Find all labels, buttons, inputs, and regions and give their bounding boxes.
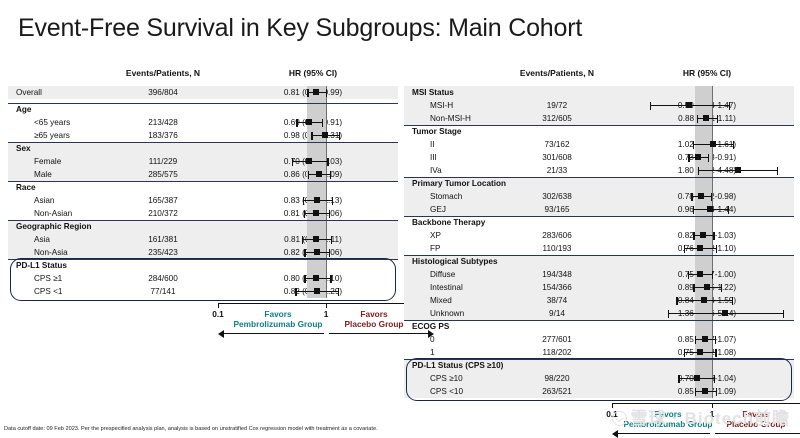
ci-cap-upper [729, 102, 730, 110]
forest-plot-cell [600, 307, 752, 320]
forest-row: Overall396/8040.81 (0.67-0.99) [8, 86, 398, 99]
ci-cap-lower [693, 232, 694, 240]
axis-tick [218, 303, 219, 308]
point-estimate-marker [722, 310, 728, 316]
point-estimate-marker [314, 249, 320, 255]
reference-band [695, 125, 712, 138]
point-estimate-marker [703, 115, 709, 121]
forest-row: Stomach302/6380.78 (0.62-0.98) [404, 190, 794, 203]
ci-cap-lower [684, 245, 685, 253]
forest-row: XP283/6060.82 (0.65-1.03) [404, 229, 794, 242]
point-estimate-marker [316, 171, 322, 177]
forest-row: CPS ≥1284/6000.80 (0.63-1.10) [8, 272, 398, 285]
ci-cap-upper [713, 232, 714, 240]
reference-line [326, 181, 327, 194]
forest-row: Diffuse194/3480.75 (0.57-1.00) [404, 268, 794, 281]
point-estimate-marker [314, 288, 320, 294]
point-estimate-marker [694, 375, 700, 381]
ci-cap-lower [304, 249, 305, 257]
reference-band [695, 216, 712, 229]
events-patients-value: 235/423 [118, 248, 208, 257]
ci-cap-upper [716, 245, 717, 253]
forest-plot-cell [204, 155, 356, 168]
forest-plot-cell [600, 281, 752, 294]
events-patients-value: 213/428 [118, 118, 208, 127]
ci-cap-upper [712, 271, 713, 279]
point-estimate-marker [697, 271, 703, 277]
reference-line [326, 142, 327, 155]
ci-cap-upper [728, 206, 729, 214]
favors-left-line2: Pembrolizumab Group [234, 319, 323, 329]
forest-row: CPS ≥1098/2200.70 (0.46-1.04) [404, 372, 794, 385]
ci-cap-lower [295, 288, 296, 296]
reference-line [326, 259, 327, 272]
ci-cap-upper [715, 336, 716, 344]
point-estimate-marker [313, 275, 319, 281]
subgroup-header-row: Histological Subtypes [404, 255, 794, 268]
ci-cap-upper [330, 171, 331, 179]
subgroup-label: Asian [34, 196, 54, 205]
reference-band [695, 359, 712, 372]
events-patients-value: 154/366 [512, 283, 602, 292]
ci-cap-lower [311, 132, 312, 140]
subgroup-label: Histological Subtypes [412, 257, 498, 266]
forest-plot-cell [204, 259, 356, 272]
subgroup-header-row: Tumor Stage [404, 125, 794, 138]
watermark: 雪球 · Biotech前瞻 [612, 404, 790, 429]
ci-cap-lower [304, 210, 305, 218]
subgroup-label: PD-L1 Status [16, 261, 67, 270]
forest-plot-cell [600, 216, 752, 229]
subgroup-label: MSI Status [412, 88, 454, 97]
ci-cap-lower [308, 171, 309, 179]
ci-cap-lower [303, 197, 304, 205]
ci-cap-lower [693, 141, 694, 149]
forest-plot-cell [600, 320, 752, 333]
forest-row: IVa21/331.80 (0.72-4.48) [404, 164, 794, 177]
forest-row: ≥65 years183/3760.98 (0.73-1.31) [8, 129, 398, 142]
favors-right-line2: Placebo Group [344, 319, 403, 329]
events-patients-value: 396/804 [118, 88, 208, 97]
reference-line [712, 320, 713, 333]
events-patients-value: 19/72 [512, 101, 602, 110]
events-patients-value: 301/608 [512, 153, 602, 162]
ci-cap-lower [292, 158, 293, 166]
forest-plot-cell [600, 164, 752, 177]
ci-cap-upper [338, 288, 339, 296]
events-patients-value: 194/348 [512, 270, 602, 279]
point-estimate-marker [313, 210, 319, 216]
forest-plot-cell [600, 190, 752, 203]
events-patients-value: 21/33 [512, 166, 602, 175]
point-estimate-marker [697, 245, 703, 251]
forest-row: 0277/6010.85 (0.67-1.07) [404, 333, 794, 346]
events-patients-value: 283/606 [512, 231, 602, 240]
subgroup-header-row: ECOG PS [404, 320, 794, 333]
events-patients-value: 165/387 [118, 196, 208, 205]
forest-plot-cell [204, 246, 356, 259]
ci-cap-lower [302, 236, 303, 244]
ci-cap-upper [332, 197, 333, 205]
direction-line-right [715, 433, 800, 434]
reference-band [307, 103, 326, 116]
group-separator [404, 125, 794, 126]
subgroup-label: IVa [430, 166, 442, 175]
events-patients-value: 263/521 [512, 387, 602, 396]
watermark-text: 雪球 · Biotech前瞻 [631, 409, 790, 428]
point-estimate-marker [701, 297, 707, 303]
ci-cap-upper [322, 119, 323, 127]
group-separator [8, 181, 398, 182]
ci-cap-upper [326, 89, 327, 97]
forest-row: CPS <10263/5210.85 (0.67-1.09) [404, 385, 794, 398]
point-estimate-marker [707, 206, 713, 212]
events-patients-value: 93/165 [512, 205, 602, 214]
ci-cap-lower [698, 167, 699, 175]
forest-plot-cell [600, 151, 752, 164]
group-separator [8, 142, 398, 143]
subgroup-label: CPS ≥10 [430, 374, 463, 383]
axis-tick-label: 0.1 [212, 309, 224, 319]
ci-cap-lower [684, 349, 685, 357]
subgroup-header-row: Race [8, 181, 398, 194]
forest-plot-cell [204, 220, 356, 233]
forest-plot-cell [204, 142, 356, 155]
point-estimate-marker [735, 167, 741, 173]
group-separator [8, 259, 398, 260]
forest-plot-cell [204, 86, 356, 99]
subgroup-label: II [430, 140, 435, 149]
point-estimate-marker [306, 119, 312, 125]
ci-cap-upper [329, 249, 330, 257]
ci-cap-lower [650, 102, 651, 110]
subgroup-header-row: PD-L1 Status (CPS ≥10) [404, 359, 794, 372]
subgroup-label: ≥65 years [34, 131, 70, 140]
reference-line [712, 86, 713, 99]
subgroup-label: PD-L1 Status (CPS ≥10) [412, 361, 503, 370]
point-estimate-marker [695, 154, 701, 160]
forest-row: Male285/5750.86 (0.68-1.09) [8, 168, 398, 181]
forest-plot-cell [600, 242, 752, 255]
column-header-hr-left: HR (95% CI) [238, 68, 388, 82]
reference-band [307, 259, 326, 272]
subgroup-header-row: PD-L1 Status [8, 259, 398, 272]
group-separator [404, 216, 794, 217]
reference-line [712, 255, 713, 268]
subgroup-label: Diffuse [430, 270, 455, 279]
subgroup-label: Geographic Region [16, 222, 92, 231]
forest-row: Non-Asia235/4230.82 (0.63-1.06) [8, 246, 398, 259]
forest-row: Intestinal154/3660.89 (0.65-1.22) [404, 281, 794, 294]
subgroup-header-row: Geographic Region [8, 220, 398, 233]
reference-band [307, 142, 326, 155]
events-patients-value: 38/74 [512, 296, 602, 305]
subgroup-label: Sex [16, 144, 31, 153]
ci-cap-upper [330, 275, 331, 283]
ci-cap-upper [783, 310, 784, 318]
ci-cap-lower [693, 284, 694, 292]
events-patients-value: 161/381 [118, 235, 208, 244]
ci-cap-upper [716, 388, 717, 396]
ci-cap-lower [688, 154, 689, 162]
subgroup-header-row: MSI Status [404, 86, 794, 99]
group-separator [404, 177, 794, 178]
forest-row: Female111/2290.70 (0.48-1.03) [8, 155, 398, 168]
column-header-np-left: Events/Patients, N [118, 68, 208, 82]
forest-row: CPS <177/1410.82 (0.52-1.29) [8, 285, 398, 298]
direction-arrow-left [218, 330, 224, 338]
events-patients-value: 77/141 [118, 287, 208, 296]
point-estimate-marker [700, 232, 706, 238]
events-patients-value: 98/220 [512, 374, 602, 383]
point-estimate-marker [306, 158, 312, 164]
subgroup-label: Male [34, 170, 52, 179]
forest-row: Mixed38/740.84 (0.44-1.59) [404, 294, 794, 307]
page-title: Event-Free Survival in Key Subgroups: Ma… [18, 14, 582, 43]
point-estimate-marker [322, 132, 328, 138]
subgroup-label: Intestinal [430, 283, 463, 292]
reference-line [326, 220, 327, 233]
forest-row: Non-Asian210/3720.81 (0.62-1.06) [8, 207, 398, 220]
forest-row: Asian165/3870.83 (0.61-1.13) [8, 194, 398, 207]
reference-band [695, 320, 712, 333]
forest-plot-cell [204, 285, 356, 298]
subgroup-label: MSI-H [430, 101, 453, 110]
axis-tick [326, 303, 327, 308]
ci-cap-lower [688, 271, 689, 279]
reference-band [695, 86, 712, 99]
forest-plot-cell [600, 229, 752, 242]
ci-cap-lower [676, 297, 677, 305]
point-estimate-marker [702, 388, 708, 394]
reference-line [326, 116, 327, 129]
subgroup-label: Primary Tumor Location [412, 179, 506, 188]
group-separator [404, 359, 794, 360]
ci-cap-lower [304, 275, 305, 283]
events-patients-value: 118/202 [512, 348, 602, 357]
subgroup-label: <65 years [34, 118, 70, 127]
forest-row: II73/1621.02 (0.64-1.61) [404, 138, 794, 151]
subgroup-label: Unknown [430, 309, 464, 318]
forest-plot-cell [204, 168, 356, 181]
reference-line [712, 177, 713, 190]
group-separator [404, 255, 794, 256]
subgroup-label: Backbone Therapy [412, 218, 485, 227]
favors-pembrolizumab-label: FavorsPembrolizumab Group [234, 309, 323, 329]
ci-cap-upper [331, 236, 332, 244]
forest-plot-cell [600, 372, 752, 385]
events-patients-value: 111/229 [118, 157, 208, 166]
forest-row: III301/6080.73 (0.58-0.91) [404, 151, 794, 164]
events-patients-value: 73/162 [512, 140, 602, 149]
subgroup-label: Age [16, 105, 31, 114]
point-estimate-marker [314, 197, 320, 203]
events-patients-value: 312/605 [512, 114, 602, 123]
subgroup-header-row: Age [8, 103, 398, 116]
column-header-np-right: Events/Patients, N [512, 68, 602, 82]
axis-tick-label: 1 [324, 309, 329, 319]
ci-cap-upper [733, 141, 734, 149]
ci-cap-upper [732, 297, 733, 305]
ci-cap-upper [714, 375, 715, 383]
ci-cap-upper [339, 132, 340, 140]
group-separator [404, 320, 794, 321]
forest-row: 1118/2020.75 (0.52-1.08) [404, 346, 794, 359]
subgroup-label: CPS <10 [430, 387, 463, 396]
reference-line [712, 216, 713, 229]
forest-rows-right: MSI StatusMSI-H19/720.59 (0.24-1.47)Non-… [404, 86, 794, 398]
direction-line-left [618, 433, 710, 434]
ci-cap-upper [708, 154, 709, 162]
slide-root: Event-Free Survival in Key Subgroups: Ma… [0, 0, 800, 436]
forest-plot-cell [600, 125, 752, 138]
forest-plot-cell [600, 177, 752, 190]
ci-cap-upper [329, 210, 330, 218]
forest-plot-cell [204, 116, 356, 129]
point-estimate-marker [710, 141, 716, 147]
ci-cap-upper [721, 284, 722, 292]
point-estimate-marker [704, 284, 710, 290]
subgroup-label: CPS <1 [34, 287, 62, 296]
forest-plot-cell [600, 385, 752, 398]
forest-row: Unknown9/141.36 (0.36-5.14) [404, 307, 794, 320]
forest-plot-cell [600, 255, 752, 268]
events-patients-value: 302/638 [512, 192, 602, 201]
ci-cap-lower [307, 89, 308, 97]
reference-band [307, 181, 326, 194]
ci-cap-upper [711, 193, 712, 201]
subgroup-label: III [430, 153, 437, 162]
forest-plot-cell [204, 207, 356, 220]
ci-cap-lower [668, 310, 669, 318]
group-separator [8, 220, 398, 221]
subgroup-label: Overall [16, 88, 42, 97]
favors-left-line1: Favors [264, 309, 291, 319]
forest-row: Non-MSI-H312/6050.88 (0.71-1.11) [404, 112, 794, 125]
forest-plot-cell [600, 112, 752, 125]
forest-plot-cell [600, 86, 752, 99]
forest-plot-cell [600, 203, 752, 216]
forest-plot-cell [600, 99, 752, 112]
subgroup-label: 0 [430, 335, 435, 344]
forest-row: Asia161/3810.81 (0.60-1.11) [8, 233, 398, 246]
reference-line [326, 103, 327, 116]
forest-row: GEJ93/1650.96 (0.64-1.44) [404, 203, 794, 216]
reference-band [695, 255, 712, 268]
subgroup-label: 1 [430, 348, 435, 357]
reference-band [307, 220, 326, 233]
direction-arrow-left [612, 430, 618, 438]
reference-band [695, 177, 712, 190]
subgroup-label: Mixed [430, 296, 452, 305]
point-estimate-marker [697, 349, 703, 355]
forest-plot-cell [204, 194, 356, 207]
ci-cap-upper [327, 158, 328, 166]
forest-row: FP110/1930.76 (0.52-1.10) [404, 242, 794, 255]
ci-cap-lower [678, 375, 679, 383]
forest-plot-cell [204, 233, 356, 246]
events-patients-value: 285/575 [118, 170, 208, 179]
forest-rows-left: Overall396/8040.81 (0.67-0.99)Age<65 yea… [8, 86, 398, 298]
forest-plot-cell [204, 103, 356, 116]
events-patients-value: 210/372 [118, 209, 208, 218]
favors-placebo-label: FavorsPlacebo Group [344, 309, 403, 329]
events-patients-value: 277/601 [512, 335, 602, 344]
subgroup-label: GEJ [430, 205, 446, 214]
forest-plot-cell [600, 138, 752, 151]
footnote: Data cutoff date: 09 Feb 2023. Per the p… [4, 426, 378, 432]
ci-cap-upper [715, 349, 716, 357]
subgroup-label: Non-Asian [34, 209, 72, 218]
events-patients-value: 110/193 [512, 244, 602, 253]
subgroup-header-row: Primary Tumor Location [404, 177, 794, 190]
ci-cap-lower [693, 206, 694, 214]
ci-cap-upper [717, 115, 718, 123]
subgroup-label: Female [34, 157, 61, 166]
reference-line [712, 151, 713, 164]
forest-row: MSI-H19/720.59 (0.24-1.47) [404, 99, 794, 112]
forest-plot-cell [204, 272, 356, 285]
subgroup-header-row: Sex [8, 142, 398, 155]
forest-plot-cell [600, 333, 752, 346]
subgroup-label: Tumor Stage [412, 127, 461, 136]
subgroup-label: Race [16, 183, 36, 192]
subgroup-label: Asia [34, 235, 50, 244]
ci-cap-lower [695, 388, 696, 396]
point-estimate-marker [313, 89, 319, 95]
point-estimate-marker [698, 193, 704, 199]
forest-row: <65 years213/4280.69 (0.53-0.91) [8, 116, 398, 129]
point-estimate-marker [686, 102, 692, 108]
ci-cap-upper [777, 167, 778, 175]
reference-line [712, 359, 713, 372]
favors-right-line1: Favors [360, 309, 387, 319]
ci-cap-lower [296, 119, 297, 127]
point-estimate-marker [313, 236, 319, 242]
ci-cap-lower [695, 336, 696, 344]
direction-line-left [224, 333, 324, 334]
reference-line [712, 125, 713, 138]
forest-plot-cell [600, 359, 752, 372]
ci-cap-lower [691, 193, 692, 201]
forest-plot-cell [204, 181, 356, 194]
subgroup-label: Stomach [430, 192, 462, 201]
subgroup-label: CPS ≥1 [34, 274, 62, 283]
forest-plot-cell [600, 268, 752, 281]
events-patients-value: 183/376 [118, 131, 208, 140]
point-estimate-marker [702, 336, 708, 342]
events-patients-value: 284/600 [118, 274, 208, 283]
column-header-hr-right: HR (95% CI) [632, 68, 782, 82]
forest-plot-cell [600, 294, 752, 307]
subgroup-label: FP [430, 244, 440, 253]
group-separator [8, 103, 398, 104]
forest-plot-cell [600, 346, 752, 359]
subgroup-label: XP [430, 231, 441, 240]
ci-cap-lower [697, 115, 698, 123]
subgroup-label: ECOG PS [412, 322, 449, 331]
events-patients-value: 9/14 [512, 309, 602, 318]
watermark-logo-icon [612, 411, 627, 426]
subgroup-header-row: Backbone Therapy [404, 216, 794, 229]
subgroup-label: Non-Asia [34, 248, 68, 257]
forest-plot-cell [204, 129, 356, 142]
subgroup-label: Non-MSI-H [430, 114, 471, 123]
